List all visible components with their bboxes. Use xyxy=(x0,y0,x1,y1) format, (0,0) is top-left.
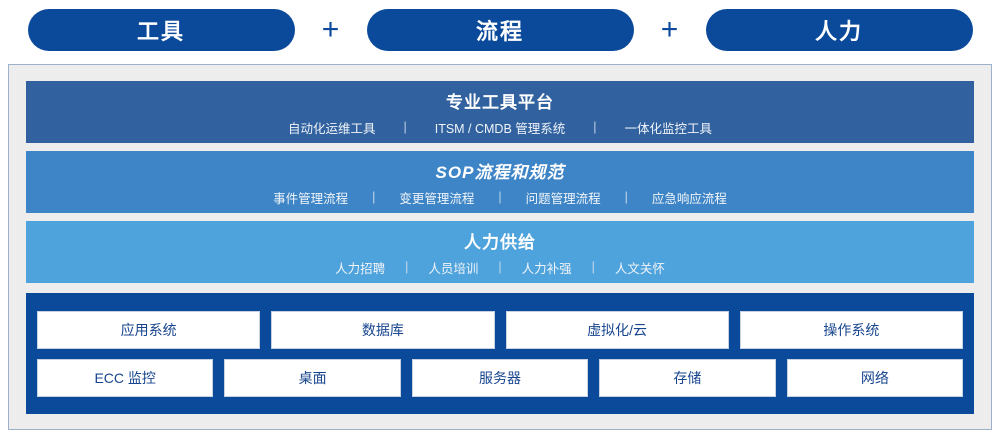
layer-item[interactable]: ITSM / CMDB 管理系统 xyxy=(409,118,592,137)
layer-items-people: 人力招聘 | 人员培训 | 人力补强 | 人文关怀 xyxy=(317,258,683,277)
object-box-application[interactable]: 应用系统 xyxy=(37,311,260,349)
pill-process[interactable]: 流程 xyxy=(367,9,634,51)
object-box-storage[interactable]: 存储 xyxy=(599,359,775,397)
header-pill-row: 工具 + 流程 + 人力 xyxy=(0,0,1000,58)
layer-title-tools: 专业工具平台 xyxy=(446,88,554,113)
item-separator: | xyxy=(370,190,377,204)
object-box-operating-system[interactable]: 操作系统 xyxy=(740,311,963,349)
managed-objects-row-1: 应用系统 数据库 虚拟化/云 操作系统 xyxy=(37,311,963,349)
layer-item[interactable]: 自动化运维工具 xyxy=(262,118,402,137)
pill-people-label: 人力 xyxy=(815,14,863,46)
layer-item[interactable]: 应急响应流程 xyxy=(630,188,749,207)
layer-item[interactable]: 人力招聘 xyxy=(317,258,403,277)
layer-item[interactable]: 人力补强 xyxy=(504,258,590,277)
layer-item[interactable]: 变更管理流程 xyxy=(377,188,496,207)
layer-item[interactable]: 事件管理流程 xyxy=(251,188,370,207)
object-box-server[interactable]: 服务器 xyxy=(412,359,588,397)
pill-process-label: 流程 xyxy=(476,14,524,46)
capability-stack-container: 专业工具平台 自动化运维工具 | ITSM / CMDB 管理系统 | 一体化监… xyxy=(8,64,992,430)
item-separator: | xyxy=(496,190,503,204)
managed-objects-row-2: ECC 监控 桌面 服务器 存储 网络 xyxy=(37,359,963,397)
pill-people[interactable]: 人力 xyxy=(706,9,973,51)
object-box-ecc-monitoring[interactable]: ECC 监控 xyxy=(37,359,213,397)
layer-band-process[interactable]: SOP流程和规范 事件管理流程 | 变更管理流程 | 问题管理流程 | 应急响应… xyxy=(26,151,974,213)
item-separator: | xyxy=(591,120,598,134)
managed-objects-panel: 应用系统 数据库 虚拟化/云 操作系统 ECC 监控 桌面 服务器 存储 网络 xyxy=(26,293,974,414)
item-separator: | xyxy=(401,120,408,134)
layer-items-tools: 自动化运维工具 | ITSM / CMDB 管理系统 | 一体化监控工具 xyxy=(262,118,738,137)
layer-item[interactable]: 一体化监控工具 xyxy=(599,118,739,137)
object-box-desktop[interactable]: 桌面 xyxy=(224,359,400,397)
item-separator: | xyxy=(496,260,503,274)
plus-operator-2: + xyxy=(634,15,706,45)
layer-item[interactable]: 人员培训 xyxy=(410,258,496,277)
item-separator: | xyxy=(590,260,597,274)
layer-title-people: 人力供给 xyxy=(464,228,536,253)
layer-item[interactable]: 人文关怀 xyxy=(597,258,683,277)
layer-item[interactable]: 问题管理流程 xyxy=(504,188,623,207)
layer-band-tools[interactable]: 专业工具平台 自动化运维工具 | ITSM / CMDB 管理系统 | 一体化监… xyxy=(26,81,974,143)
item-separator: | xyxy=(403,260,410,274)
item-separator: | xyxy=(623,190,630,204)
layer-title-process: SOP流程和规范 xyxy=(436,158,565,183)
object-box-database[interactable]: 数据库 xyxy=(271,311,494,349)
object-box-network[interactable]: 网络 xyxy=(787,359,963,397)
plus-operator-1: + xyxy=(295,15,367,45)
layer-band-people[interactable]: 人力供给 人力招聘 | 人员培训 | 人力补强 | 人文关怀 xyxy=(26,221,974,283)
layer-items-process: 事件管理流程 | 变更管理流程 | 问题管理流程 | 应急响应流程 xyxy=(251,188,749,207)
object-box-virtualization-cloud[interactable]: 虚拟化/云 xyxy=(506,311,729,349)
pill-tools-label: 工具 xyxy=(137,14,185,46)
pill-tools[interactable]: 工具 xyxy=(28,9,295,51)
